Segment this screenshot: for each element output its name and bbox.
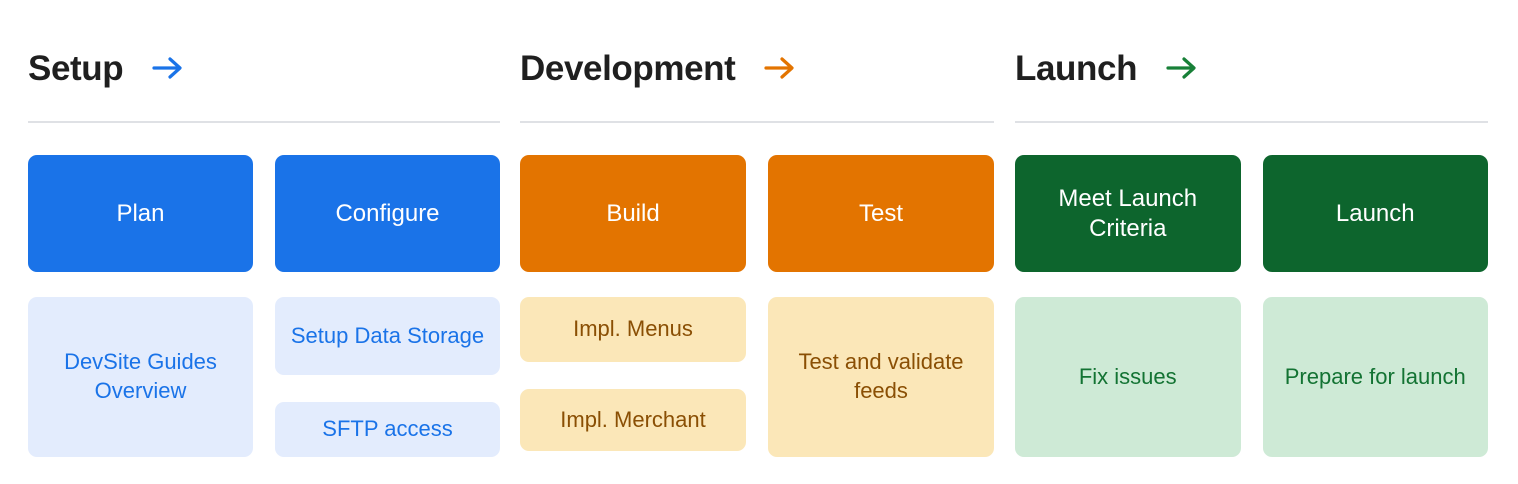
task-column-launch: Prepare for launch — [1263, 297, 1489, 457]
task-card-test-and-validate-feeds[interactable]: Test and validate feeds — [768, 297, 994, 457]
step-card-plan[interactable]: Plan — [28, 155, 253, 272]
task-column-configure: Setup Data Storage SFTP access — [275, 297, 500, 457]
task-card-fix-issues[interactable]: Fix issues — [1015, 297, 1241, 457]
phase-header-launch: Launch — [1015, 42, 1199, 94]
task-card-sftp-access[interactable]: SFTP access — [275, 402, 500, 457]
phase-header-setup: Setup — [28, 42, 185, 94]
step-card-test[interactable]: Test — [768, 155, 994, 272]
arrow-right-icon — [151, 54, 185, 82]
primary-steps-launch: Meet Launch Criteria Launch — [1015, 155, 1488, 272]
step-card-launch[interactable]: Launch — [1263, 155, 1489, 272]
phase-title-setup: Setup — [28, 51, 123, 86]
phase-title-development: Development — [520, 51, 735, 86]
phase-divider-development — [520, 121, 994, 123]
step-card-meet-launch-criteria[interactable]: Meet Launch Criteria — [1015, 155, 1241, 272]
task-card-impl-menus[interactable]: Impl. Menus — [520, 297, 746, 362]
arrow-right-icon — [1165, 54, 1199, 82]
task-card-devsite-guides-overview[interactable]: DevSite Guides Overview — [28, 297, 253, 457]
step-card-build[interactable]: Build — [520, 155, 746, 272]
task-card-setup-data-storage[interactable]: Setup Data Storage — [275, 297, 500, 375]
step-card-configure[interactable]: Configure — [275, 155, 500, 272]
primary-steps-setup: Plan Configure — [28, 155, 500, 272]
task-card-impl-merchant[interactable]: Impl. Merchant — [520, 389, 746, 451]
phase-column-launch: Launch Meet Launch Criteria Launch Fix i… — [1015, 0, 1488, 484]
task-column-meet-launch-criteria: Fix issues — [1015, 297, 1241, 457]
phase-column-development: Development Build Test Impl. Menus Impl.… — [520, 0, 994, 484]
task-groups-development: Impl. Menus Impl. Merchant Test and vali… — [520, 297, 994, 457]
arrow-right-icon — [763, 54, 797, 82]
roadmap-diagram: Setup Plan Configure DevSite Guides Over… — [0, 0, 1518, 484]
task-groups-launch: Fix issues Prepare for launch — [1015, 297, 1488, 457]
phase-title-launch: Launch — [1015, 51, 1137, 86]
task-column-test: Test and validate feeds — [768, 297, 994, 457]
task-groups-setup: DevSite Guides Overview Setup Data Stora… — [28, 297, 500, 457]
task-card-prepare-for-launch[interactable]: Prepare for launch — [1263, 297, 1489, 457]
phase-divider-launch — [1015, 121, 1488, 123]
phase-divider-setup — [28, 121, 500, 123]
phase-column-setup: Setup Plan Configure DevSite Guides Over… — [28, 0, 500, 484]
phase-header-development: Development — [520, 42, 797, 94]
primary-steps-development: Build Test — [520, 155, 994, 272]
task-column-build: Impl. Menus Impl. Merchant — [520, 297, 746, 457]
task-column-plan: DevSite Guides Overview — [28, 297, 253, 457]
